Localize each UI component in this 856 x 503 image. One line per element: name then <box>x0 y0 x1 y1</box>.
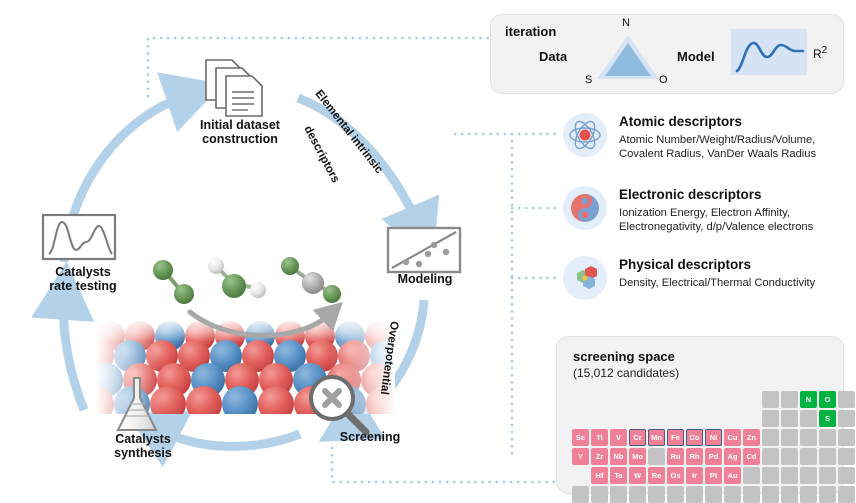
data-triangle-chart: N S O <box>591 29 665 85</box>
element-cell-empty[interactable] <box>629 486 646 503</box>
element-cell-empty[interactable] <box>762 448 779 465</box>
descriptor-line2: Covalent Radius, VanDer Waals Radius <box>619 148 816 160</box>
element-cell-O[interactable]: O <box>819 391 836 408</box>
descriptor-line1: Atomic Number/Weight/Radius/Volume, <box>619 134 815 146</box>
element-cell-empty[interactable] <box>743 486 760 503</box>
element-cell-Nb[interactable]: Nb <box>610 448 627 465</box>
element-cell-empty[interactable] <box>838 410 855 427</box>
element-cell-Sc[interactable]: Sc <box>572 429 589 446</box>
data-label: Data <box>539 49 567 64</box>
element-cell-empty[interactable] <box>800 467 817 484</box>
descriptor-title: Physical descriptors <box>619 257 751 272</box>
element-cell-V[interactable]: V <box>610 429 627 446</box>
element-cell-empty[interactable] <box>762 410 779 427</box>
element-cell-Os[interactable]: Os <box>667 467 684 484</box>
atom-svg <box>563 113 607 157</box>
element-cell-empty[interactable] <box>705 486 722 503</box>
element-cell-empty[interactable] <box>762 391 779 408</box>
vertex-n: N <box>622 17 630 29</box>
element-cell-empty[interactable] <box>781 410 798 427</box>
element-cell-empty[interactable] <box>781 391 798 408</box>
model-curve-svg <box>731 29 807 75</box>
yin-yang-icon <box>563 186 607 230</box>
rate-line2: rate testing <box>49 279 116 293</box>
screening-space-title: screening space <box>573 349 675 364</box>
element-cell-empty[interactable] <box>800 410 817 427</box>
element-cell-Hf[interactable]: Hf <box>591 467 608 484</box>
vertex-s: S <box>585 74 592 86</box>
element-cell-Cr[interactable]: Cr <box>629 429 646 446</box>
rate-testing-label: Catalysts rate testing <box>28 265 138 293</box>
element-cell-empty[interactable] <box>838 486 855 503</box>
element-cell-empty[interactable] <box>686 486 703 503</box>
synthesis-label: Catalysts synthesis <box>88 432 198 460</box>
element-cell-Pt[interactable]: Pt <box>705 467 722 484</box>
element-cell-Mo[interactable]: Mo <box>629 448 646 465</box>
iteration-panel: iteration Data N S O Model R2 <box>490 14 844 94</box>
screening-label: Screening <box>310 430 430 444</box>
element-cell-empty[interactable] <box>838 448 855 465</box>
element-cell-Ir[interactable]: Ir <box>686 467 703 484</box>
descriptor-title: Electronic descriptors <box>619 187 762 202</box>
element-cell-Ru[interactable]: Ru <box>667 448 684 465</box>
descriptor-line2: Electronegativity, d/p/Valence electrons <box>619 221 813 233</box>
descriptor-line1: Ionization Energy, Electron Affinity, <box>619 207 790 219</box>
element-cell-Mn[interactable]: Mn <box>648 429 665 446</box>
initial-dataset-line1: Initial dataset <box>200 118 280 132</box>
element-cell-empty[interactable] <box>800 429 817 446</box>
descriptor-body: Ionization Energy, Electron Affinity, El… <box>619 206 813 234</box>
synthesis-line1: Catalysts <box>115 432 171 446</box>
element-cell-empty[interactable] <box>838 467 855 484</box>
modeling-label: Modeling <box>370 272 480 286</box>
yin-yang-svg <box>563 186 607 230</box>
element-cell-empty[interactable] <box>743 467 760 484</box>
model-curve-chart <box>731 29 807 75</box>
element-cell-empty[interactable] <box>724 486 741 503</box>
screening-space-subtitle: (15,012 candidates) <box>573 366 679 380</box>
element-cell-empty[interactable] <box>781 486 798 503</box>
element-cell-Cd[interactable]: Cd <box>743 448 760 465</box>
element-cell-empty[interactable] <box>838 429 855 446</box>
descriptor-line1: Density, Electrical/Thermal Conductivity <box>619 277 815 289</box>
element-cell-empty[interactable] <box>762 467 779 484</box>
element-cell-S[interactable]: S <box>819 410 836 427</box>
element-cell-Cu[interactable]: Cu <box>724 429 741 446</box>
element-cell-Re[interactable]: Re <box>648 467 665 484</box>
element-cell-N[interactable]: N <box>800 391 817 408</box>
hexagons-svg <box>563 256 607 300</box>
element-cell-empty[interactable] <box>591 486 608 503</box>
initial-dataset-label: Initial dataset construction <box>180 118 300 146</box>
element-cell-empty[interactable] <box>648 448 665 465</box>
iteration-title: iteration <box>505 24 556 39</box>
descriptor-body: Atomic Number/Weight/Radius/Volume, Cova… <box>619 133 816 161</box>
element-cell-Au[interactable]: Au <box>724 467 741 484</box>
element-cell-empty[interactable] <box>762 486 779 503</box>
element-cell-empty[interactable] <box>781 429 798 446</box>
element-cell-empty[interactable] <box>781 448 798 465</box>
descriptor-title: Atomic descriptors <box>619 114 742 129</box>
element-cell-empty[interactable] <box>781 467 798 484</box>
rate-line1: Catalysts <box>55 265 111 279</box>
element-cell-Pd[interactable]: Pd <box>705 448 722 465</box>
element-cell-Ag[interactable]: Ag <box>724 448 741 465</box>
triangle-svg <box>591 29 665 85</box>
element-cell-empty[interactable] <box>819 429 836 446</box>
element-cell-Rh[interactable]: Rh <box>686 448 703 465</box>
element-cell-empty[interactable] <box>800 448 817 465</box>
element-cell-empty[interactable] <box>572 486 589 503</box>
element-cell-empty[interactable] <box>819 448 836 465</box>
element-cell-empty[interactable] <box>800 486 817 503</box>
element-cell-empty[interactable] <box>667 486 684 503</box>
r-squared-label: R2 <box>813 45 827 61</box>
vertex-o: O <box>659 74 668 86</box>
element-cell-Y[interactable]: Y <box>572 448 589 465</box>
model-label: Model <box>677 49 715 64</box>
element-cell-Ni[interactable]: Ni <box>705 429 722 446</box>
element-cell-empty[interactable] <box>762 429 779 446</box>
initial-dataset-line2: construction <box>202 132 278 146</box>
element-cell-empty[interactable] <box>610 486 627 503</box>
element-cell-empty[interactable] <box>819 467 836 484</box>
atom-icon <box>563 113 607 157</box>
element-cell-Co[interactable]: Co <box>686 429 703 446</box>
element-cell-empty[interactable] <box>819 486 836 503</box>
descriptor-body: Density, Electrical/Thermal Conductivity <box>619 276 815 290</box>
element-cell-Ti[interactable]: Ti <box>591 429 608 446</box>
element-cell-W[interactable]: W <box>629 467 646 484</box>
element-cell-empty[interactable] <box>648 486 665 503</box>
element-cell-Ta[interactable]: Ta <box>610 467 627 484</box>
hexagons-icon <box>563 256 607 300</box>
element-cell-Zr[interactable]: Zr <box>591 448 608 465</box>
synthesis-line2: synthesis <box>114 446 172 460</box>
element-cell-Zn[interactable]: Zn <box>743 429 760 446</box>
element-cell-Fe[interactable]: Fe <box>667 429 684 446</box>
element-cell-empty[interactable] <box>838 391 855 408</box>
